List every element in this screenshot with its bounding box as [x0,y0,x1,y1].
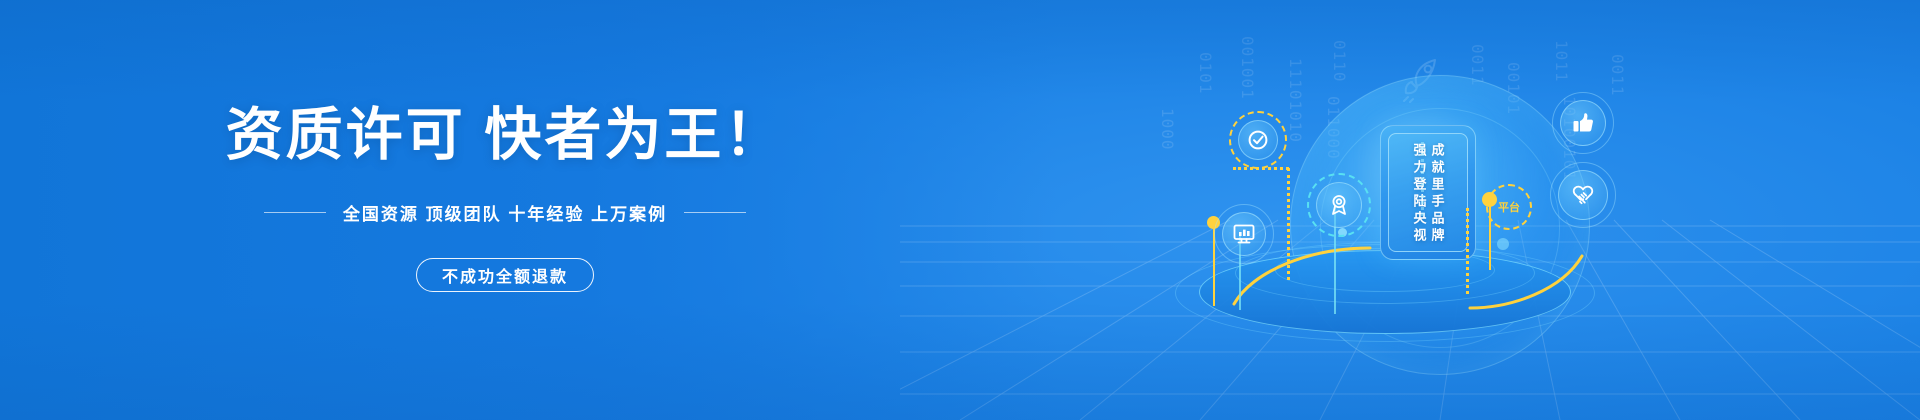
refund-guarantee-button[interactable]: 不成功全额退款 [416,258,594,292]
page-title: 资质许可 快者为王！ [0,104,1010,168]
cta-row: 不成功全额退款 [0,258,1010,292]
hero-banner: 0101 001001 11101010 0110 011000 0011 00… [0,0,1920,420]
divider-right [684,212,746,213]
subtitle: 全国资源 顶级团队 十年经验 上万案例 [343,200,667,225]
subtitle-row: 全国资源 顶级团队 十年经验 上万案例 [0,200,1010,225]
copy-block: 资质许可 快者为王！ 全国资源 顶级团队 十年经验 上万案例 不成功全额退款 [0,0,1010,420]
divider-left [264,212,326,213]
